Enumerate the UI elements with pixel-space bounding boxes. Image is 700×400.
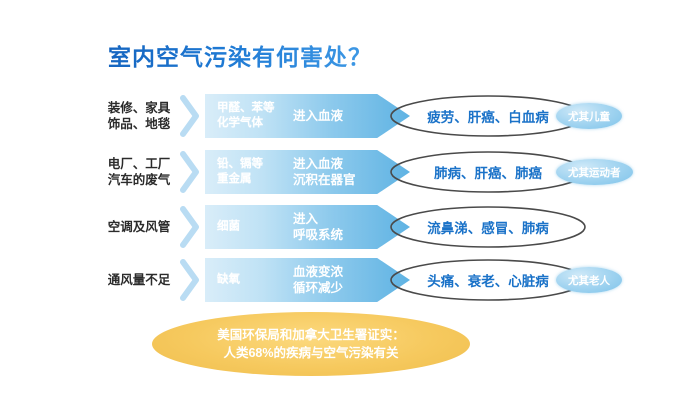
flow-row: 通风量不足 缺氧 血液变浓 循环减少 头痛、衰老、心脏病 尤其老人	[0, 256, 700, 304]
effect-label: 血液变浓 循环减少	[293, 264, 385, 296]
chevron-right-icon	[180, 94, 200, 138]
agent-label: 铅、镉等 重金属	[217, 157, 289, 187]
agent-label: 甲醛、苯等 化学气体	[217, 101, 289, 131]
flow-row: 装修、家具 饰品、地毯 甲醛、苯等 化学气体 进入血液 疲劳、肝癌、白血病 尤其…	[0, 92, 700, 140]
effect-label: 进入血液 沉积在器官	[293, 156, 385, 188]
outcome-label: 流鼻涕、感冒、肺病	[388, 217, 588, 237]
chevron-right-icon	[180, 205, 200, 249]
agent-label: 缺氧	[217, 273, 289, 288]
infographic-canvas: 室内空气污染有何害处？ 装修、家具 饰品、地毯 甲醛、苯等 化学气体 进入血液 …	[0, 0, 700, 400]
audience-badge: 尤其运动者	[556, 159, 633, 185]
outcome-oval: 肺病、肝癌、肺癌 尤其运动者	[388, 149, 588, 195]
effect-label: 进入 呼吸系统	[293, 211, 385, 243]
source-label: 通风量不足	[100, 272, 178, 288]
flow-row: 空调及风管 细菌 进入 呼吸系统 流鼻涕、感冒、肺病	[0, 203, 700, 251]
chevron-right-icon	[180, 150, 200, 194]
outcome-oval: 疲劳、肝癌、白血病 尤其儿童	[388, 93, 588, 139]
pollution-path-band: 铅、镉等 重金属 进入血液 沉积在器官	[205, 150, 410, 194]
audience-badge: 尤其老人	[556, 267, 622, 293]
chevron-right-icon	[180, 258, 200, 302]
footnote-banner: 美国环保局和加拿大卫生署证实： 人类68%的疾病与空气污染有关	[152, 312, 470, 376]
source-label: 装修、家具 饰品、地毯	[100, 100, 178, 132]
pollution-path-band: 细菌 进入 呼吸系统	[205, 205, 410, 249]
audience-badge: 尤其儿童	[556, 103, 622, 129]
source-label: 空调及风管	[100, 219, 178, 235]
agent-label: 细菌	[217, 220, 289, 235]
pollution-path-band: 缺氧 血液变浓 循环减少	[205, 258, 410, 302]
footnote-text: 美国环保局和加拿大卫生署证实： 人类68%的疾病与空气污染有关	[217, 326, 405, 362]
page-title: 室内空气污染有何害处？	[108, 38, 372, 72]
outcome-oval: 头痛、衰老、心脏病 尤其老人	[388, 257, 588, 303]
outcome-oval: 流鼻涕、感冒、肺病	[388, 204, 588, 250]
effect-label: 进入血液	[293, 108, 385, 124]
pollution-path-band: 甲醛、苯等 化学气体 进入血液	[205, 94, 410, 138]
flow-row: 电厂、工厂 汽车的废气 铅、镉等 重金属 进入血液 沉积在器官 肺病、肝癌、肺癌…	[0, 148, 700, 196]
source-label: 电厂、工厂 汽车的废气	[100, 156, 178, 188]
